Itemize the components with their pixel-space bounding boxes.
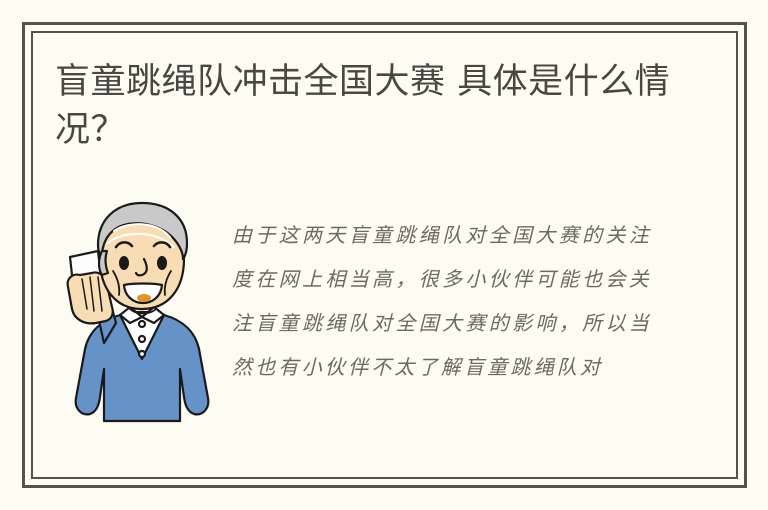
eye-left	[119, 256, 129, 270]
sideburn	[99, 251, 108, 275]
elderly-man-illustration	[58, 193, 214, 463]
article-body: 由于这两天盲童跳绳队对全国大赛的关注度在网上相当高，很多小伙伴可能也会关注盲童跳…	[232, 213, 652, 389]
page-title: 盲童跳绳队冲击全国大赛 具体是什么情况？	[55, 58, 695, 154]
tongue	[137, 294, 151, 302]
eye-right	[157, 256, 167, 270]
article-card: 盲童跳绳队冲击全国大赛 具体是什么情况？	[0, 0, 768, 510]
